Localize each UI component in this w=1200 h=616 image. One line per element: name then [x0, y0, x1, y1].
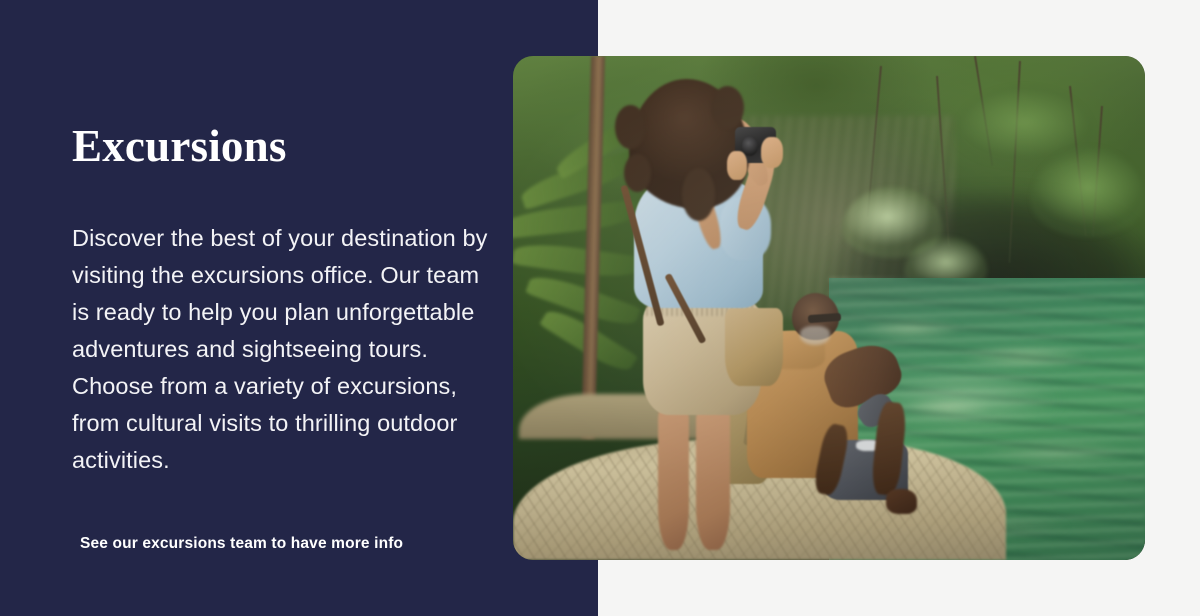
woman-hair-curl-1: [615, 105, 646, 149]
woman-leg-right: [696, 405, 730, 550]
photo-scene: [513, 56, 1145, 560]
description-paragraph: Discover the best of your destination by…: [72, 220, 498, 479]
woman-hand-left: [727, 151, 746, 180]
woman-photographer-figure: [576, 76, 816, 560]
excursions-promo-section: Excursions Discover the best of your des…: [0, 0, 1200, 616]
woman-hand-right: [761, 137, 783, 168]
page-title: Excursions: [72, 120, 287, 172]
woman-crossbody-bag: [725, 308, 783, 385]
excursions-team-link[interactable]: See our excursions team to have more inf…: [80, 533, 403, 555]
excursions-photo-card: [513, 56, 1145, 560]
woman-leg-left: [658, 405, 689, 550]
navy-text-panel: Excursions Discover the best of your des…: [0, 0, 598, 616]
woman-hair-curl-2: [624, 154, 650, 193]
man-foot: [886, 489, 917, 513]
panel-content: Excursions Discover the best of your des…: [72, 0, 502, 616]
